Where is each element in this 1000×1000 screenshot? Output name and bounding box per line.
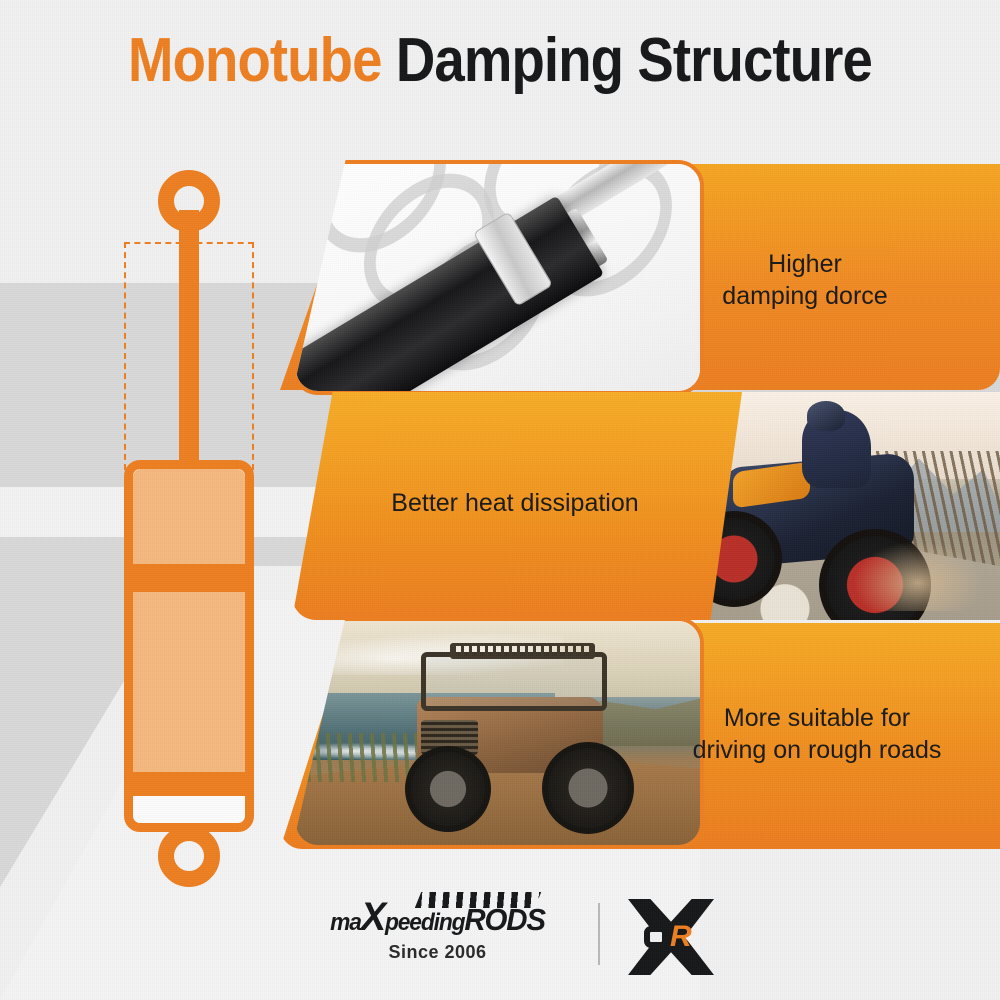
oxr-x-badge-logo: R (628, 899, 714, 975)
footer: maXpeedingRODS Since 2006 R (0, 895, 1000, 985)
page-title-highlight: Monotube (128, 26, 382, 95)
badge-letter-r: R (670, 924, 700, 950)
badge-letter-o (644, 926, 668, 948)
panel-3-caption: More suitable for driving on rough roads (652, 702, 982, 766)
brand-part-rods: RODS (464, 902, 545, 937)
utv-side-by-side-coastal-trail-photo (292, 617, 704, 849)
brand-wordmark: maXpeedingRODS (307, 895, 568, 940)
brand-part-x: X (361, 895, 385, 939)
brand-part-peeding: peeding (385, 909, 464, 936)
page-title-rest: Damping Structure (382, 26, 872, 95)
brand-part-ma: ma (330, 909, 361, 936)
panel-2-caption: Better heat dissipation (345, 487, 685, 519)
panel-1-caption: Higher damping dorce (640, 248, 970, 312)
brand-since-label: Since 2006 (300, 942, 575, 963)
footer-divider (598, 903, 600, 965)
maxpeedingrods-logo: maXpeedingRODS Since 2006 (300, 895, 575, 963)
utv-artwork (296, 621, 700, 845)
infographic-canvas: Monotube Damping Structure Higher dampin… (0, 0, 1000, 1000)
page-title: Monotube Damping Structure (60, 30, 940, 92)
